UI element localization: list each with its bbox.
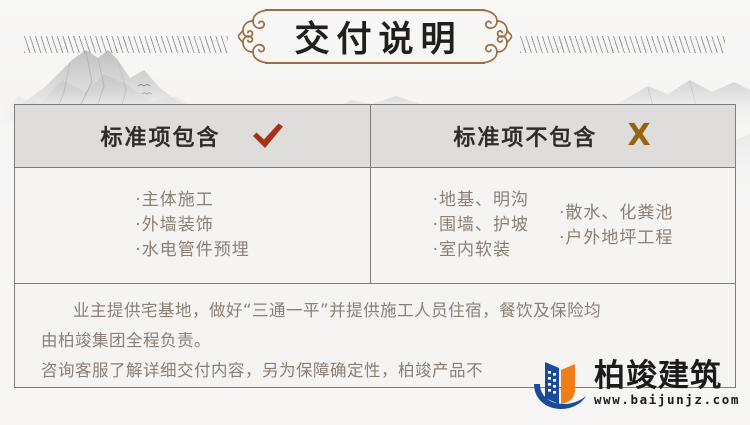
list-item: ·室内软装: [433, 238, 529, 263]
list-item: ·外墙装饰: [135, 213, 249, 238]
watermark-text: 柏竣建筑 www.baijunjz.com: [594, 360, 740, 407]
hatch-rule-right-icon: [520, 36, 725, 53]
list-item: ·围墙、护坡: [433, 213, 529, 238]
building-swoosh-logo-icon: [528, 354, 590, 412]
delivery-scope-table: 标准项包含 标准项不包含 X ·主体施工 ·外墙装饰 ·水电管件预埋: [14, 104, 736, 388]
brand-name: 柏竣建筑: [594, 360, 740, 392]
cell-included-items: ·主体施工 ·外墙装饰 ·水电管件预埋: [15, 168, 371, 283]
excluded-items-list-first: ·地基、明沟 ·围墙、护坡 ·室内软装: [433, 188, 529, 263]
title-plaque: 交付说明: [243, 6, 507, 67]
brand-website: www.baijunjz.com: [594, 392, 740, 407]
column-header-excluded: 标准项不包含 X: [371, 105, 735, 167]
column-header-included-label: 标准项包含: [100, 120, 220, 152]
page-title: 交付说明: [243, 6, 507, 67]
footnote-line: 业主提供宅基地，做好“三通一平”并提供施工人员住宿，餐饮及保险均: [41, 296, 709, 326]
delivery-spec-poster: 交付说明 标准项包含 标准项不包含 X ·主体施工 ·外墙装饰: [0, 0, 750, 425]
list-item: ·地基、明沟: [433, 188, 529, 213]
cross-mark-icon: X: [627, 121, 652, 151]
list-item: ·散水、化粪池: [559, 201, 673, 226]
list-item: ·主体施工: [135, 188, 249, 213]
column-header-excluded-label: 标准项不包含: [453, 120, 597, 152]
column-header-included: 标准项包含: [15, 105, 371, 167]
watermark-logo: 柏竣建筑 www.baijunjz.com: [528, 352, 744, 414]
hatch-rule-left-icon: [24, 36, 228, 53]
excluded-items-list-second: ·散水、化粪池 ·户外地坪工程: [559, 201, 673, 251]
list-item: ·水电管件预埋: [135, 238, 249, 263]
included-items-list: ·主体施工 ·外墙装饰 ·水电管件预埋: [135, 188, 249, 263]
table-header-row: 标准项包含 标准项不包含 X: [15, 105, 735, 168]
check-mark-icon: [251, 122, 285, 150]
list-item: ·户外地坪工程: [559, 226, 673, 251]
cell-excluded-items: ·地基、明沟 ·围墙、护坡 ·室内软装 ·散水、化粪池 ·户外地坪工程: [371, 168, 735, 283]
table-body-row: ·主体施工 ·外墙装饰 ·水电管件预埋 ·地基、明沟 ·围墙、护坡 ·室内软装 …: [15, 168, 735, 284]
